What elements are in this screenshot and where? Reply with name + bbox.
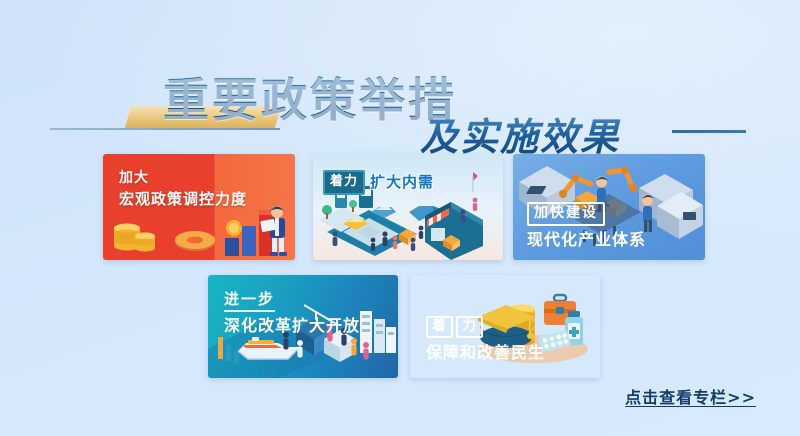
card-modern-industrial-system-line2: 现代化产业体系	[527, 230, 646, 250]
card-modern-industrial-system-line1: 加快建设	[527, 202, 646, 226]
card-peoples-livelihood-line1-glyph: 力	[456, 316, 483, 338]
poster-canvas: 重要政策举措 及实施效果	[0, 0, 800, 436]
card-macro-policy-line2: 宏观政策调控力度	[119, 190, 247, 209]
card-macro-policy[interactable]: 加大 宏观政策调控力度	[103, 154, 295, 260]
card-macro-policy-caption: 加大 宏观政策调控力度	[119, 170, 247, 209]
card-peoples-livelihood-caption: 着力 保障和改善民生	[426, 315, 545, 363]
card-reform-opening-line2: 深化改革扩大开放	[224, 316, 360, 336]
title-rule-right	[672, 130, 746, 133]
card-modern-industrial-system[interactable]: 加快建设 现代化产业体系	[513, 154, 705, 260]
card-domestic-demand[interactable]: 着力 扩大内需	[313, 154, 503, 260]
card-reform-opening[interactable]: 进一步 深化改革扩大开放	[208, 275, 398, 378]
card-reform-opening-caption: 进一步 深化改革扩大开放	[224, 289, 360, 337]
card-peoples-livelihood-line2: 保障和改善民生	[426, 343, 545, 363]
card-peoples-livelihood[interactable]: 着力 保障和改善民生	[410, 275, 600, 378]
card-peoples-livelihood-line1-glyph: 着	[426, 316, 453, 338]
card-domestic-demand-line2: 扩大内需	[367, 171, 437, 194]
card-domestic-demand-caption: 着力 扩大内需	[323, 170, 437, 195]
view-column-link[interactable]: 点击查看专栏>>	[625, 384, 756, 408]
card-peoples-livelihood-line1: 着力	[426, 315, 486, 338]
card-macro-policy-line1: 加大	[119, 170, 247, 188]
page-title: 重要政策举措 及实施效果	[0, 30, 800, 130]
title-line-2: 及实施效果	[0, 106, 800, 161]
card-domestic-demand-line1: 着力	[323, 170, 365, 195]
card-reform-opening-line1: 进一步	[224, 290, 275, 312]
card-modern-industrial-system-caption: 加快建设 现代化产业体系	[527, 202, 646, 250]
